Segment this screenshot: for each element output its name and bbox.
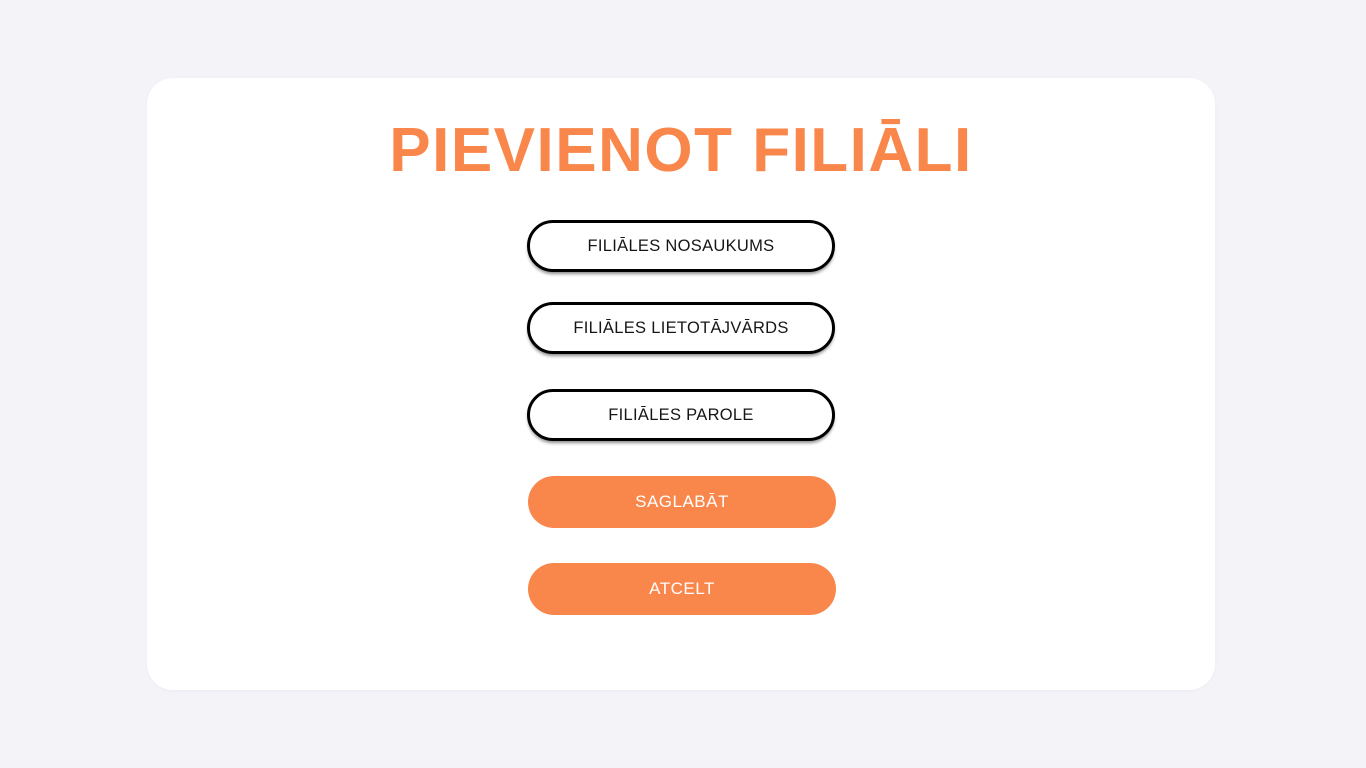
save-button[interactable]: SAGLABĀT [528, 476, 836, 528]
form-fields [147, 220, 1215, 441]
branch-username-input[interactable] [527, 302, 835, 354]
page-root: PIEVIENOT FILIĀLI SAGLABĀT ATCELT [0, 0, 1366, 768]
branch-name-input[interactable] [527, 220, 835, 272]
form-actions: SAGLABĀT ATCELT [149, 476, 1215, 615]
add-branch-card: PIEVIENOT FILIĀLI SAGLABĀT ATCELT [147, 78, 1215, 690]
branch-password-input[interactable] [527, 389, 835, 441]
page-title: PIEVIENOT FILIĀLI [147, 120, 1215, 182]
cancel-button[interactable]: ATCELT [528, 563, 836, 615]
